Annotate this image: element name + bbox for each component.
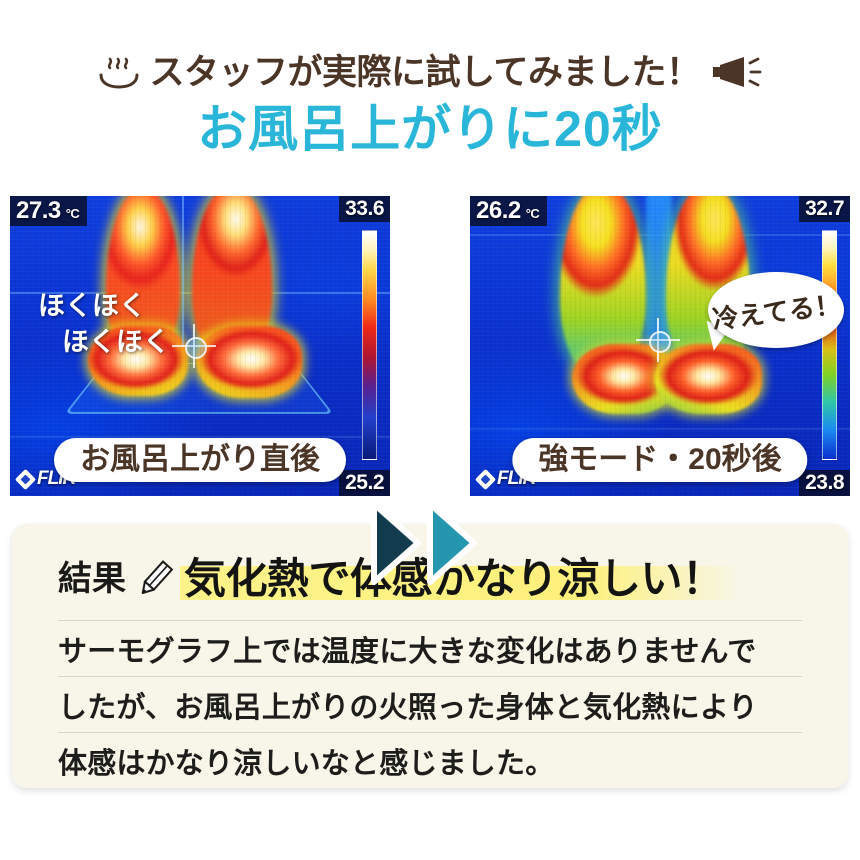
headline-row: スタッフが実際に試してみました！ <box>0 46 860 98</box>
temp-value: 26.2 <box>476 196 521 226</box>
pencil-icon <box>132 557 176 601</box>
thermal-image-before: 27.3 °C 33.6 25.2 ほくほく ほくほく FLIR お風呂上がり直… <box>10 196 390 496</box>
temp-readout-before: 27.3 °C <box>10 196 87 226</box>
headline-text: スタッフが実際に試してみました！ <box>150 55 701 90</box>
arrow-chevron-light <box>430 504 474 582</box>
header: スタッフが実際に試してみました！ お風呂上がりに20秒 <box>0 0 860 182</box>
caption-text: お風呂上がり直後 <box>80 443 320 476</box>
caption-text: 強モード・20秒後 <box>538 443 781 476</box>
temp-unit: °C <box>66 199 80 229</box>
body-line: したが、お風呂上がりの火照った身体と気化熱により <box>58 676 802 732</box>
temp-max-after: 32.7 <box>799 196 850 222</box>
arrow-chevron-dark <box>374 504 418 582</box>
subhead: お風呂上がりに20秒 <box>0 104 860 154</box>
temperature-scale-bar <box>822 230 837 460</box>
body-line: 体感はかなり涼しいなと感じました。 <box>58 732 802 788</box>
caption-pill-after: 強モード・20秒後 <box>512 438 807 483</box>
body-line-text: したが、お風呂上がりの火照った身体と気化熱により <box>58 684 758 726</box>
speech-bubble-text: 冷えてる！ <box>710 284 842 336</box>
overlay-text-hokuhoku-2: ほくほく <box>62 320 170 359</box>
temp-min-after: 23.8 <box>799 470 850 496</box>
overlay-text-hokuhoku-1: ほくほく <box>38 284 146 323</box>
temp-unit: °C <box>526 199 540 229</box>
body-line: サーモグラフ上では温度に大きな変化はありませんで <box>58 620 802 676</box>
thermal-image-after: 26.2 °C 32.7 23.8 冷えてる！ FLIR 強モード・20秒後 <box>470 196 850 496</box>
caption-pill-before: お風呂上がり直後 <box>54 438 346 483</box>
speech-bubble-after: 冷えてる！ <box>708 272 844 348</box>
temperature-scale-bar <box>362 230 377 460</box>
flir-diamond-icon <box>15 468 36 489</box>
body-line-text: サーモグラフ上では温度に大きな変化はありませんで <box>58 628 756 670</box>
temp-value: 27.3 <box>16 196 61 226</box>
hot-spring-icon <box>98 55 140 89</box>
thermal-comparison: 27.3 °C 33.6 25.2 ほくほく ほくほく FLIR お風呂上がり直… <box>0 196 860 496</box>
result-body: サーモグラフ上では温度に大きな変化はありませんで したが、お風呂上がりの火照った… <box>58 620 802 788</box>
body-line-text: 体感はかなり涼しいなと感じました。 <box>58 740 554 782</box>
transition-arrows <box>368 498 492 588</box>
temp-min-before: 25.2 <box>339 470 390 496</box>
temp-max-before: 33.6 <box>339 196 390 222</box>
megaphone-icon <box>710 54 762 90</box>
temp-readout-after: 26.2 °C <box>470 196 547 226</box>
result-label: 結果 <box>58 562 126 596</box>
flir-diamond-icon <box>475 468 496 489</box>
